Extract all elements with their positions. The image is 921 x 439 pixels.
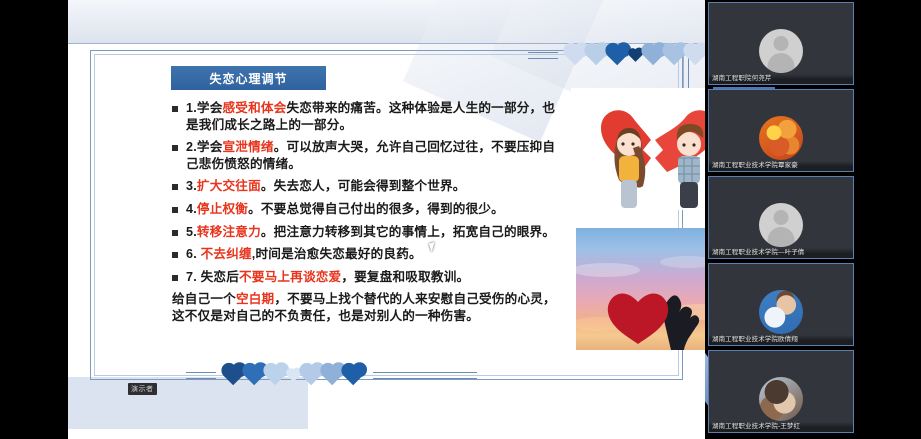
bullet-text: 5.转移注意力。把注意力转移到其它的事情上，拓宽自己的眼界。 <box>186 224 562 241</box>
bullet-square-icon <box>172 275 178 281</box>
participant-tile[interactable]: 湖南工程职业技术学院-王梦红 <box>708 350 854 433</box>
screen-share-window: 失恋心理调节 1.学会感受和体会失恋带来的痛苦。这种体验是人生的一部分，也是我们… <box>0 0 921 439</box>
bullet-square-icon <box>172 207 178 213</box>
presentation-slide[interactable]: 失恋心理调节 1.学会感受和体会失恋带来的痛苦。这种体验是人生的一部分，也是我们… <box>68 0 705 439</box>
bullet-square-icon <box>172 252 178 258</box>
slide-body: 1.学会感受和体会失恋带来的痛苦。这种体验是人生的一部分，也是我们成长之路上的一… <box>172 100 562 325</box>
avatar <box>759 290 803 334</box>
avatar <box>759 377 803 421</box>
sunset-heart-photo <box>576 228 705 350</box>
slide-bullet: 5.转移注意力。把注意力转移到其它的事情上，拓宽自己的眼界。 <box>172 224 562 241</box>
body-text-run: 。失去恋人，可能会得到整个世界。 <box>261 179 466 193</box>
bullet-text: 1.学会感受和体会失恋带来的痛苦。这种体验是人生的一部分，也是我们成长之路上的一… <box>186 100 562 133</box>
slide-footer-strip <box>68 429 705 439</box>
highlighted-text: 不去纠缠 <box>201 247 252 261</box>
body-text-run: 。不要总觉得自己付出的很多，得到的很少。 <box>248 202 504 216</box>
broken-heart-couple-image <box>571 88 705 210</box>
bullet-square-icon <box>172 106 178 112</box>
bullet-text: 3.扩大交往面。失去恋人，可能会得到整个世界。 <box>186 178 562 195</box>
body-text-run: 6. <box>186 247 201 261</box>
bullet-text: 6. 不去纠缠,时间是治愈失恋最好的良药。 <box>186 246 562 263</box>
highlighted-text: 扩大交往面 <box>197 179 261 193</box>
bullet-text: 4.停止权衡。不要总觉得自己付出的很多，得到的很少。 <box>186 201 562 218</box>
highlighted-text: 空白期 <box>236 292 274 306</box>
decor-hearts-bottom <box>186 368 477 382</box>
bullet-text: 7. 失恋后不要马上再谈恋爱，要复盘和吸取教训。 <box>186 269 562 286</box>
body-text-run: ,时间是治愈失恋最好的良药。 <box>252 247 422 261</box>
avatar <box>759 203 803 247</box>
avatar <box>759 116 803 160</box>
slide-bullet: 7. 失恋后不要马上再谈恋爱，要复盘和吸取教训。 <box>172 269 562 286</box>
body-text-run: 给自己一个 <box>172 292 236 306</box>
slide-title: 失恋心理调节 <box>209 70 287 87</box>
body-text-run: 7. 失恋后 <box>186 270 239 284</box>
bullet-square-icon <box>172 230 178 236</box>
bullet-square-icon <box>172 145 178 151</box>
heart-icon <box>343 365 364 386</box>
body-text-run: 5. <box>186 225 197 239</box>
slide-bullet: 2.学会宣泄情绪。可以放声大哭，允许自己回忆过往，不要压抑自己悲伤愤怒的情绪。 <box>172 139 562 172</box>
decor-rule <box>528 52 558 59</box>
heart-icon <box>322 365 343 386</box>
share-indicator-chip: 演示者 <box>128 383 157 395</box>
participant-name: 湖南工程职业技术学院欧倩翔 <box>709 335 853 345</box>
body-text-run: 2.学会 <box>186 140 223 154</box>
avatar <box>759 29 803 73</box>
participant-tile[interactable]: 湖南工程职业技术学院欧倩翔 <box>708 263 854 346</box>
participant-filmstrip[interactable]: 湖南工程职院何尧芹湖南工程职业技术学院覃家豪湖南工程职业技术学院—叶子倩湖南工程… <box>705 0 921 439</box>
slide-bullet: 6. 不去纠缠,时间是治愈失恋最好的良药。 <box>172 246 562 263</box>
participant-name: 湖南工程职业技术学院-王梦红 <box>709 422 853 432</box>
slide-bullet: 3.扩大交往面。失去恋人，可能会得到整个世界。 <box>172 178 562 195</box>
participant-name: 湖南工程职业技术学院—叶子倩 <box>709 248 853 258</box>
highlighted-text: 不要马上再谈恋爱 <box>239 270 341 284</box>
participant-tile[interactable]: 湖南工程职业技术学院覃家豪 <box>708 89 854 172</box>
slide-header-band <box>68 0 705 44</box>
decor-hearts-top <box>528 48 705 62</box>
highlighted-text: 感受和体会 <box>223 101 287 115</box>
slide-bullet: 4.停止权衡。不要总觉得自己付出的很多，得到的很少。 <box>172 201 562 218</box>
decor-rule <box>186 372 216 379</box>
body-text-run: 3. <box>186 179 197 193</box>
bullet-square-icon <box>172 184 178 190</box>
highlighted-text: 宣泄情绪 <box>223 140 274 154</box>
body-text-run: 4. <box>186 202 197 216</box>
bullet-text: 2.学会宣泄情绪。可以放声大哭，允许自己回忆过往，不要压抑自己悲伤愤怒的情绪。 <box>186 139 562 172</box>
participant-name: 湖南工程职院何尧芹 <box>709 74 853 84</box>
participant-tile[interactable]: 湖南工程职院何尧芹 <box>708 2 854 85</box>
participant-name: 湖南工程职业技术学院覃家豪 <box>709 161 853 171</box>
slide-title-plate: 失恋心理调节 <box>171 66 326 90</box>
body-text-run: 。把注意力转移到其它的事情上，拓宽自己的眼界。 <box>261 225 555 239</box>
highlighted-text: 转移注意力 <box>197 225 261 239</box>
shared-screen-stage[interactable]: 失恋心理调节 1.学会感受和体会失恋带来的痛苦。这种体验是人生的一部分，也是我们… <box>0 0 705 439</box>
participant-tile[interactable]: 湖南工程职业技术学院—叶子倩 <box>708 176 854 259</box>
highlighted-text: 停止权衡 <box>197 202 248 216</box>
body-text-run: ，要复盘和吸取教训。 <box>341 270 469 284</box>
decor-rule <box>373 372 477 379</box>
slide-bullet: 1.学会感受和体会失恋带来的痛苦。这种体验是人生的一部分，也是我们成长之路上的一… <box>172 100 562 133</box>
body-text-run: 1.学会 <box>186 101 223 115</box>
slide-paragraph: 给自己一个空白期，不要马上找个替代的人来安慰自己受伤的心灵，这不仅是对自己的不负… <box>172 291 562 325</box>
